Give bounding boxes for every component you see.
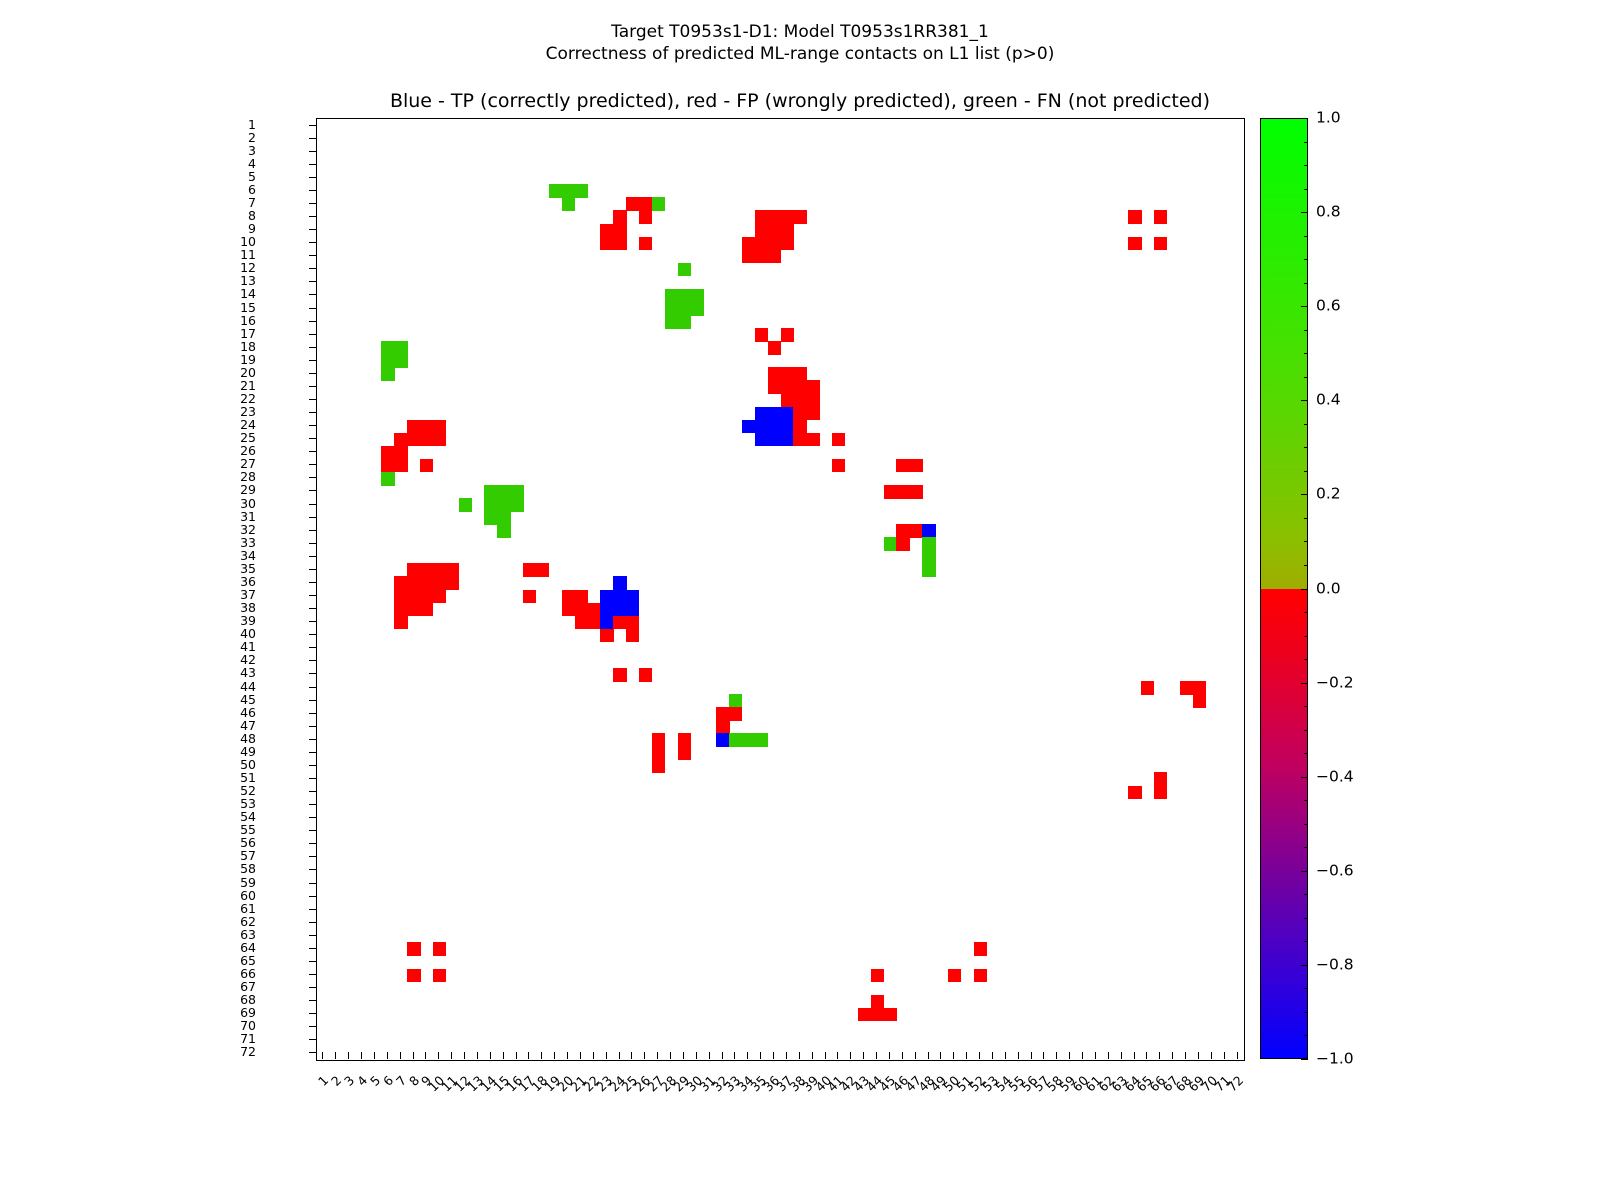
y-tick-mark [309,425,316,426]
y-tick-label: 72 [240,1046,256,1059]
contact-cell [587,603,600,617]
contact-cell [497,498,510,512]
contact-cell [922,537,935,551]
contact-cell [974,942,987,956]
colorbar-tick-label: 0.4 [1316,393,1341,409]
contact-cell [806,380,819,394]
contact-cell [793,367,806,381]
colorbar-minor-tick [1304,800,1308,801]
colorbar-minor-tick [1304,165,1308,166]
contact-cell [755,420,768,434]
contact-cell [729,694,742,708]
x-tick-mark [992,1052,993,1059]
x-tick-mark [541,1052,542,1059]
colorbar-minor-tick [1304,424,1308,425]
y-tick-mark [309,752,316,753]
colorbar-minor-tick [1304,259,1308,260]
contact-cell [678,315,691,329]
colorbar-minor-tick [1304,306,1308,307]
contact-cell [394,616,407,630]
y-tick-mark [309,1039,316,1040]
x-tick-mark [1159,1052,1160,1059]
x-tick-mark [1018,1052,1019,1059]
colorbar-minor-tick [1304,941,1308,942]
y-tick-mark [309,164,316,165]
contact-cell [639,210,652,224]
colorbar-minor-tick [1304,400,1308,401]
x-tick-mark [1185,1052,1186,1059]
contact-cell [394,446,407,460]
colorbar-minor-tick [1304,730,1308,731]
y-tick-mark [309,1013,316,1014]
contact-cell [497,524,510,538]
contact-cell [600,590,613,604]
contact-cell [781,380,794,394]
x-tick-mark [1237,1052,1238,1059]
contact-cell [626,603,639,617]
y-tick-mark [309,634,316,635]
contact-cell [381,341,394,355]
contact-cell [896,524,909,538]
x-tick-mark [850,1052,851,1059]
contact-cell [768,407,781,421]
contact-cell [678,733,691,747]
contact-cell [974,969,987,983]
contact-cell [484,485,497,499]
contact-cell [381,367,394,381]
contact-cell [871,969,884,983]
contact-cell [806,407,819,421]
colorbar-minor-tick [1304,824,1308,825]
title-line-2: Correctness of predicted ML-range contac… [0,44,1600,64]
contact-cell [523,590,536,604]
x-tick-mark [387,1052,388,1059]
y-tick-mark [309,856,316,857]
y-tick-mark [309,229,316,230]
contact-cell [613,603,626,617]
colorbar-minor-tick [1304,777,1308,778]
contact-cell [755,433,768,447]
contact-cell [768,237,781,251]
contact-cell [575,616,588,630]
contact-cell [394,603,407,617]
y-tick-mark [309,883,316,884]
y-tick-mark [309,974,316,975]
x-tick-mark [425,1052,426,1059]
contact-cell [793,210,806,224]
contact-cell [433,420,446,434]
x-tick-mark [773,1052,774,1059]
contact-cell [407,590,420,604]
x-tick-mark [1056,1052,1057,1059]
contact-cell [690,289,703,303]
y-tick-mark [309,765,316,766]
colorbar-minor-tick [1304,753,1308,754]
contact-cell [768,367,781,381]
y-tick-mark [309,203,316,204]
colorbar-tick-label: −0.6 [1316,863,1354,879]
contact-cell [781,407,794,421]
contact-cell [665,315,678,329]
colorbar-minor-tick [1304,965,1308,966]
x-tick-mark [631,1052,632,1059]
contact-cell [871,995,884,1009]
x-tick-mark [966,1052,967,1059]
contact-cell [459,498,472,512]
contact-cell [1154,237,1167,251]
contact-cell [1193,694,1206,708]
contact-cell [420,459,433,473]
contact-cell [909,524,922,538]
contact-cell [407,563,420,577]
colorbar-minor-tick [1304,283,1308,284]
contact-cell [832,459,845,473]
contact-cell [381,354,394,368]
colorbar-tick-label: −0.2 [1316,675,1354,691]
contact-cell [652,197,665,211]
contact-cell [884,485,897,499]
y-tick-mark [309,216,316,217]
contact-cell [678,289,691,303]
contact-cell [613,210,626,224]
y-tick-mark [309,961,316,962]
contact-cell [793,420,806,434]
contact-cell [381,459,394,473]
y-tick-mark [309,412,316,413]
contact-cell [768,250,781,264]
y-tick-mark [309,817,316,818]
x-axis: 1234567891011121314151617181920212223242… [316,1060,1245,1200]
contact-cell [613,590,626,604]
x-tick-mark [953,1052,954,1059]
x-tick-mark [580,1052,581,1059]
x-tick-mark [361,1052,362,1059]
colorbar-minor-tick [1304,330,1308,331]
contact-cell [600,224,613,238]
contact-cell [433,576,446,590]
x-tick-mark [696,1052,697,1059]
contact-cell [420,433,433,447]
contact-cell [562,603,575,617]
contact-cell [523,563,536,577]
contact-cell [626,197,639,211]
colorbar-minor-tick [1304,494,1308,495]
x-tick-mark [464,1052,465,1059]
contact-cell [639,197,652,211]
contact-cell [433,590,446,604]
colorbar-minor-tick [1304,353,1308,354]
contact-cell [729,733,742,747]
x-tick-mark [940,1052,941,1059]
y-tick-mark [309,608,316,609]
contact-cell [781,393,794,407]
y-tick-mark [309,151,316,152]
contact-cell [420,603,433,617]
x-tick-mark [644,1052,645,1059]
colorbar[interactable]: 1.00.80.60.40.20.0−0.2−0.4−0.6−0.8−1.0 [1260,118,1560,1059]
contact-map-cells [317,119,1244,1060]
x-tick-mark [516,1052,517,1059]
y-tick-mark [309,869,316,870]
colorbar-tick-label: −0.8 [1316,957,1354,973]
y-tick-mark [309,242,316,243]
contact-cell [768,224,781,238]
contact-cell [871,1008,884,1022]
colorbar-gradient-lower [1260,589,1308,1060]
x-tick-mark [979,1052,980,1059]
x-tick-mark [657,1052,658,1059]
x-tick-mark [413,1052,414,1059]
x-tick-mark [490,1052,491,1059]
colorbar-minor-tick [1304,894,1308,895]
y-tick-mark [309,321,316,322]
contact-cell [781,433,794,447]
x-tick-mark [1121,1052,1122,1059]
contact-cell [433,563,446,577]
contact-cell [484,498,497,512]
colorbar-minor-tick [1304,1012,1308,1013]
contact-cell [420,590,433,604]
contact-cell [626,629,639,643]
y-tick-mark [309,935,316,936]
colorbar-minor-tick [1304,706,1308,707]
contact-cell [613,224,626,238]
contact-cell [884,1008,897,1022]
contact-cell [716,733,729,747]
contact-cell [858,1008,871,1022]
contact-cell [394,576,407,590]
contact-cell [381,446,394,460]
contact-cell [768,433,781,447]
contact-cell [768,380,781,394]
x-tick-mark [1082,1052,1083,1059]
contact-cell [896,537,909,551]
contact-cell [394,590,407,604]
contact-cell [742,733,755,747]
contact-cell [755,328,768,342]
x-tick-mark [1134,1052,1135,1059]
contact-cell [433,969,446,983]
contact-cell [768,420,781,434]
contact-cell [562,197,575,211]
contact-cell [639,237,652,251]
contact-cell [562,184,575,198]
contact-cell [1193,681,1206,695]
contact-cell [613,616,626,630]
contact-cell [716,720,729,734]
contact-cell [1128,786,1141,800]
x-tick-mark [374,1052,375,1059]
x-tick-mark [1146,1052,1147,1059]
contact-cell [896,459,909,473]
x-tick-mark [322,1052,323,1059]
contact-cell [613,237,626,251]
colorbar-minor-tick [1304,541,1308,542]
y-tick-mark [309,255,316,256]
contact-cell [420,576,433,590]
contact-cell [768,210,781,224]
y-tick-mark [309,517,316,518]
x-tick-mark [619,1052,620,1059]
colorbar-minor-tick [1304,589,1308,590]
contact-cell [755,733,768,747]
y-tick-mark [309,125,316,126]
y-tick-mark [309,791,316,792]
y-tick-mark [309,1052,316,1053]
legend-description: Blue - TP (correctly predicted), red - F… [0,90,1600,112]
contact-cell [678,263,691,277]
contact-cell [394,459,407,473]
y-tick-mark [309,490,316,491]
y-tick-mark [309,948,316,949]
y-tick-mark [309,830,316,831]
y-tick-mark [309,673,316,674]
contact-cell [1154,772,1167,786]
contact-map-plot[interactable] [316,118,1245,1061]
x-tick-mark [567,1052,568,1059]
contact-cell [433,942,446,956]
colorbar-minor-tick [1304,683,1308,684]
y-axis: 1234567891011121314151617181920212223242… [0,118,316,1061]
x-tick-mark [709,1052,710,1059]
contact-cell [510,485,523,499]
colorbar-minor-tick [1304,518,1308,519]
x-tick-mark [438,1052,439,1059]
x-tick-mark [1108,1052,1109,1059]
contact-cell [896,485,909,499]
colorbar-tick-label: −1.0 [1316,1051,1354,1067]
x-tick-mark [1172,1052,1173,1059]
y-tick-mark [309,268,316,269]
x-tick-mark [1198,1052,1199,1059]
x-tick-mark [1211,1052,1212,1059]
x-tick-mark [734,1052,735,1059]
y-tick-mark [309,294,316,295]
contact-cell [652,746,665,760]
x-tick-mark [786,1052,787,1059]
contact-cell [781,237,794,251]
contact-cell [497,511,510,525]
contact-cell [510,498,523,512]
y-tick-mark [309,804,316,805]
y-tick-mark [309,177,316,178]
contact-cell [729,707,742,721]
colorbar-tick-label: 1.0 [1316,110,1341,126]
contact-cell [1128,210,1141,224]
contact-cell [793,380,806,394]
x-tick-mark [348,1052,349,1059]
contact-cell [665,289,678,303]
contact-cell [497,485,510,499]
y-tick-mark [309,922,316,923]
contact-cell [407,576,420,590]
y-tick-mark [309,595,316,596]
contact-cell [446,563,459,577]
x-tick-mark [1031,1052,1032,1059]
colorbar-minor-tick [1304,565,1308,566]
contact-cell [600,237,613,251]
contact-cell [381,472,394,486]
y-tick-mark [309,1000,316,1001]
contact-cell [626,616,639,630]
contact-cell [600,629,613,643]
colorbar-minor-tick [1304,847,1308,848]
contact-cell [806,393,819,407]
contact-cell [678,746,691,760]
contact-cell [433,433,446,447]
contact-cell [407,942,420,956]
x-tick-mark [747,1052,748,1059]
x-tick-mark [837,1052,838,1059]
y-tick-mark [309,451,316,452]
x-tick-mark [1005,1052,1006,1059]
title-line-1: Target T0953s1-D1: Model T0953s1RR381_1 [0,22,1600,42]
contact-cell [922,563,935,577]
contact-cell [613,668,626,682]
colorbar-minor-tick [1304,212,1308,213]
y-tick-mark [309,464,316,465]
colorbar-tick-label: 0.8 [1316,204,1341,220]
contact-cell [716,707,729,721]
y-tick-mark [309,438,316,439]
contact-cell [948,969,961,983]
x-tick-mark [670,1052,671,1059]
contact-cell [884,537,897,551]
contact-cell [626,590,639,604]
contact-cell [755,237,768,251]
colorbar-minor-tick [1304,189,1308,190]
contact-cell [793,407,806,421]
x-tick-mark [503,1052,504,1059]
contact-cell [600,603,613,617]
contact-cell [781,328,794,342]
contact-cell [678,302,691,316]
x-tick-mark [683,1052,684,1059]
y-tick-mark [309,334,316,335]
contact-cell [1180,681,1193,695]
colorbar-tick-label: 0.6 [1316,298,1341,314]
x-tick-mark [863,1052,864,1059]
x-tick-mark [812,1052,813,1059]
colorbar-minor-tick [1304,471,1308,472]
contact-cell [407,969,420,983]
contact-cell [575,590,588,604]
x-tick-mark [799,1052,800,1059]
x-tick-mark [477,1052,478,1059]
contact-cell [922,524,935,538]
y-tick-mark [309,281,316,282]
contact-cell [420,563,433,577]
colorbar-minor-tick [1304,236,1308,237]
contact-cell [394,433,407,447]
colorbar-tick-label: 0.2 [1316,487,1341,503]
y-tick-mark [309,556,316,557]
contact-cell [420,420,433,434]
colorbar-minor-tick [1304,142,1308,143]
y-tick-mark [309,647,316,648]
contact-cell [613,576,626,590]
contact-cell [922,550,935,564]
contact-cell [781,210,794,224]
contact-cell [909,459,922,473]
x-tick-mark [722,1052,723,1059]
y-tick-mark [309,843,316,844]
contact-cell [562,590,575,604]
contact-cell [742,420,755,434]
contact-cell [755,407,768,421]
contact-cell [690,302,703,316]
y-tick-mark [309,308,316,309]
